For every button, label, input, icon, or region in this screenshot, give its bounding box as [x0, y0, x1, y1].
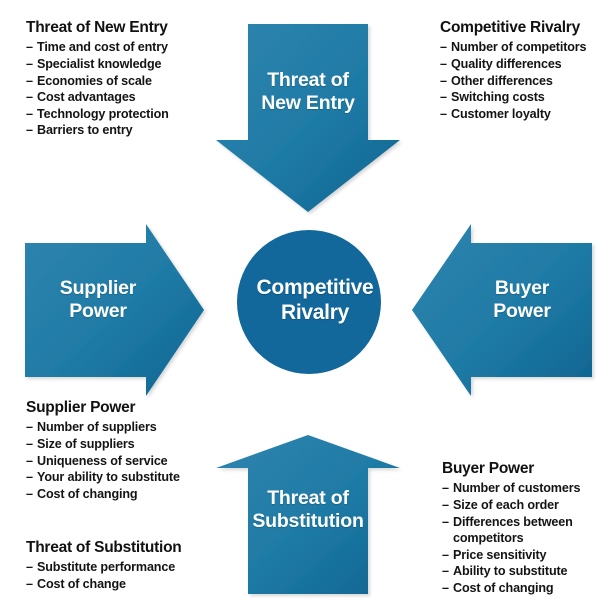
force-list-buyer-power: –Number of customers–Size of each order–…	[442, 480, 616, 596]
force-list-item: –Size of suppliers	[26, 436, 238, 453]
force-list-threat-of-new-entry: –Time and cost of entry–Specialist knowl…	[26, 39, 226, 139]
force-block-threat-of-new-entry: Threat of New Entry –Time and cost of en…	[26, 18, 226, 139]
force-list-item-text: Number of suppliers	[37, 420, 157, 434]
center-label-competitive-rivalry: Competitive Rivalry	[245, 275, 385, 325]
force-list-item-text: Price sensitivity	[453, 548, 546, 562]
force-block-supplier-power: Supplier Power –Number of suppliers–Size…	[26, 398, 238, 502]
arrow-label-supplier-power: Supplier Power	[28, 277, 168, 323]
force-list-item: –Number of customers	[442, 480, 616, 497]
force-list-item: –Cost of change	[26, 576, 238, 593]
force-list-item-text: Specialist knowledge	[37, 57, 161, 71]
force-list-item: –Cost of changing	[26, 486, 238, 503]
bullet-dash-icon: –	[442, 547, 449, 564]
force-list-item-text: Substitute performance	[37, 560, 175, 574]
bullet-dash-icon: –	[440, 39, 447, 56]
force-block-threat-of-substitution: Threat of Substitution –Substitute perfo…	[26, 538, 238, 593]
force-list-item-text: Barriers to entry	[37, 123, 132, 137]
force-block-competitive-rivalry: Competitive Rivalry –Number of competito…	[440, 18, 616, 122]
force-list-item-text: Ability to substitute	[453, 564, 567, 578]
force-list-item: –Size of each order	[442, 497, 616, 514]
force-block-buyer-power: Buyer Power –Number of customers–Size of…	[442, 459, 616, 597]
bullet-dash-icon: –	[26, 469, 33, 486]
bullet-dash-icon: –	[26, 106, 33, 123]
bullet-dash-icon: –	[26, 73, 33, 90]
bullet-dash-icon: –	[442, 497, 449, 514]
bullet-dash-icon: –	[26, 559, 33, 576]
force-title: Threat of Substitution	[26, 538, 238, 557]
force-list-item-text: Cost advantages	[37, 90, 136, 104]
bullet-dash-icon: –	[26, 486, 33, 503]
force-title: Competitive Rivalry	[440, 18, 616, 37]
force-list-item-text: Quality differences	[451, 57, 562, 71]
arrow-threat-of-new-entry[interactable]	[216, 24, 400, 212]
bullet-dash-icon: –	[26, 576, 33, 593]
force-list-item: –Uniqueness of service	[26, 453, 238, 470]
force-list-item-text: Number of competitors	[451, 40, 586, 54]
force-list-item-text: Number of customers	[453, 481, 580, 495]
force-list-item: –Ability to substitute	[442, 563, 616, 580]
porters-five-forces-diagram: Threat of New Entry Threat of Substituti…	[0, 0, 616, 603]
bullet-dash-icon: –	[442, 580, 449, 597]
force-list-item-text: Customer loyalty	[451, 107, 551, 121]
force-list-item-text: Other differences	[451, 74, 553, 88]
arrow-label-buyer-power: Buyer Power	[452, 277, 592, 323]
force-list-item: –Specialist knowledge	[26, 56, 226, 73]
force-list-item: –Your ability to substitute	[26, 469, 238, 486]
force-list-item-text: Cost of change	[37, 577, 126, 591]
force-list-item-text: Economies of scale	[37, 74, 152, 88]
force-list-item: –Differences between	[442, 514, 616, 531]
bullet-dash-icon: –	[26, 419, 33, 436]
force-list-item: –Technology protection	[26, 106, 226, 123]
bullet-dash-icon: –	[26, 56, 33, 73]
force-list-item: –Barriers to entry	[26, 122, 226, 139]
arrow-label-threat-of-new-entry: Threat of New Entry	[232, 69, 384, 115]
force-list-item: –Number of competitors	[440, 39, 616, 56]
force-list-item-text: Time and cost of entry	[37, 40, 168, 54]
force-title: Buyer Power	[442, 459, 616, 478]
force-list-item: –Price sensitivity	[442, 547, 616, 564]
force-list-item: –Other differences	[440, 73, 616, 90]
force-list-item: –Substitute performance	[26, 559, 238, 576]
bullet-dash-icon: –	[440, 56, 447, 73]
force-list-competitive-rivalry: –Number of competitors–Quality differenc…	[440, 39, 616, 122]
bullet-dash-icon: –	[440, 73, 447, 90]
bullet-dash-icon: –	[442, 514, 449, 531]
force-list-threat-of-substitution: –Substitute performance–Cost of change	[26, 559, 238, 592]
force-list-item-text: Differences between	[453, 515, 573, 529]
force-list-item: –Time and cost of entry	[26, 39, 226, 56]
force-list-item-text: competitors	[453, 531, 523, 545]
force-list-item-text: Size of each order	[453, 498, 559, 512]
arrow-label-threat-of-substitution: Threat of Substitution	[226, 487, 390, 533]
force-title: Threat of New Entry	[26, 18, 226, 37]
bullet-dash-icon: –	[26, 436, 33, 453]
bullet-dash-icon: –	[440, 106, 447, 123]
force-list-item: –Switching costs	[440, 89, 616, 106]
bullet-dash-icon: –	[440, 89, 447, 106]
force-list-item-text: Uniqueness of service	[37, 454, 168, 468]
force-list-item: –Quality differences	[440, 56, 616, 73]
force-list-item: –Cost advantages	[26, 89, 226, 106]
bullet-dash-icon: –	[26, 89, 33, 106]
force-list-item: –Cost of changing	[442, 580, 616, 597]
force-list-item-text: Technology protection	[37, 107, 169, 121]
force-list-item-text: Your ability to substitute	[37, 470, 180, 484]
force-list-item: –Customer loyalty	[440, 106, 616, 123]
bullet-dash-icon: –	[442, 480, 449, 497]
bullet-dash-icon: –	[26, 453, 33, 470]
bullet-dash-icon: –	[442, 563, 449, 580]
force-list-item: –Number of suppliers	[26, 419, 238, 436]
force-list-supplier-power: –Number of suppliers–Size of suppliers–U…	[26, 419, 238, 502]
bullet-dash-icon: –	[26, 39, 33, 56]
force-list-item: –Economies of scale	[26, 73, 226, 90]
force-title: Supplier Power	[26, 398, 238, 417]
force-list-item: –competitors	[442, 530, 616, 547]
bullet-dash-icon: –	[26, 122, 33, 139]
force-list-item-text: Switching costs	[451, 90, 545, 104]
force-list-item-text: Cost of changing	[37, 487, 137, 501]
force-list-item-text: Cost of changing	[453, 581, 553, 595]
force-list-item-text: Size of suppliers	[37, 437, 135, 451]
